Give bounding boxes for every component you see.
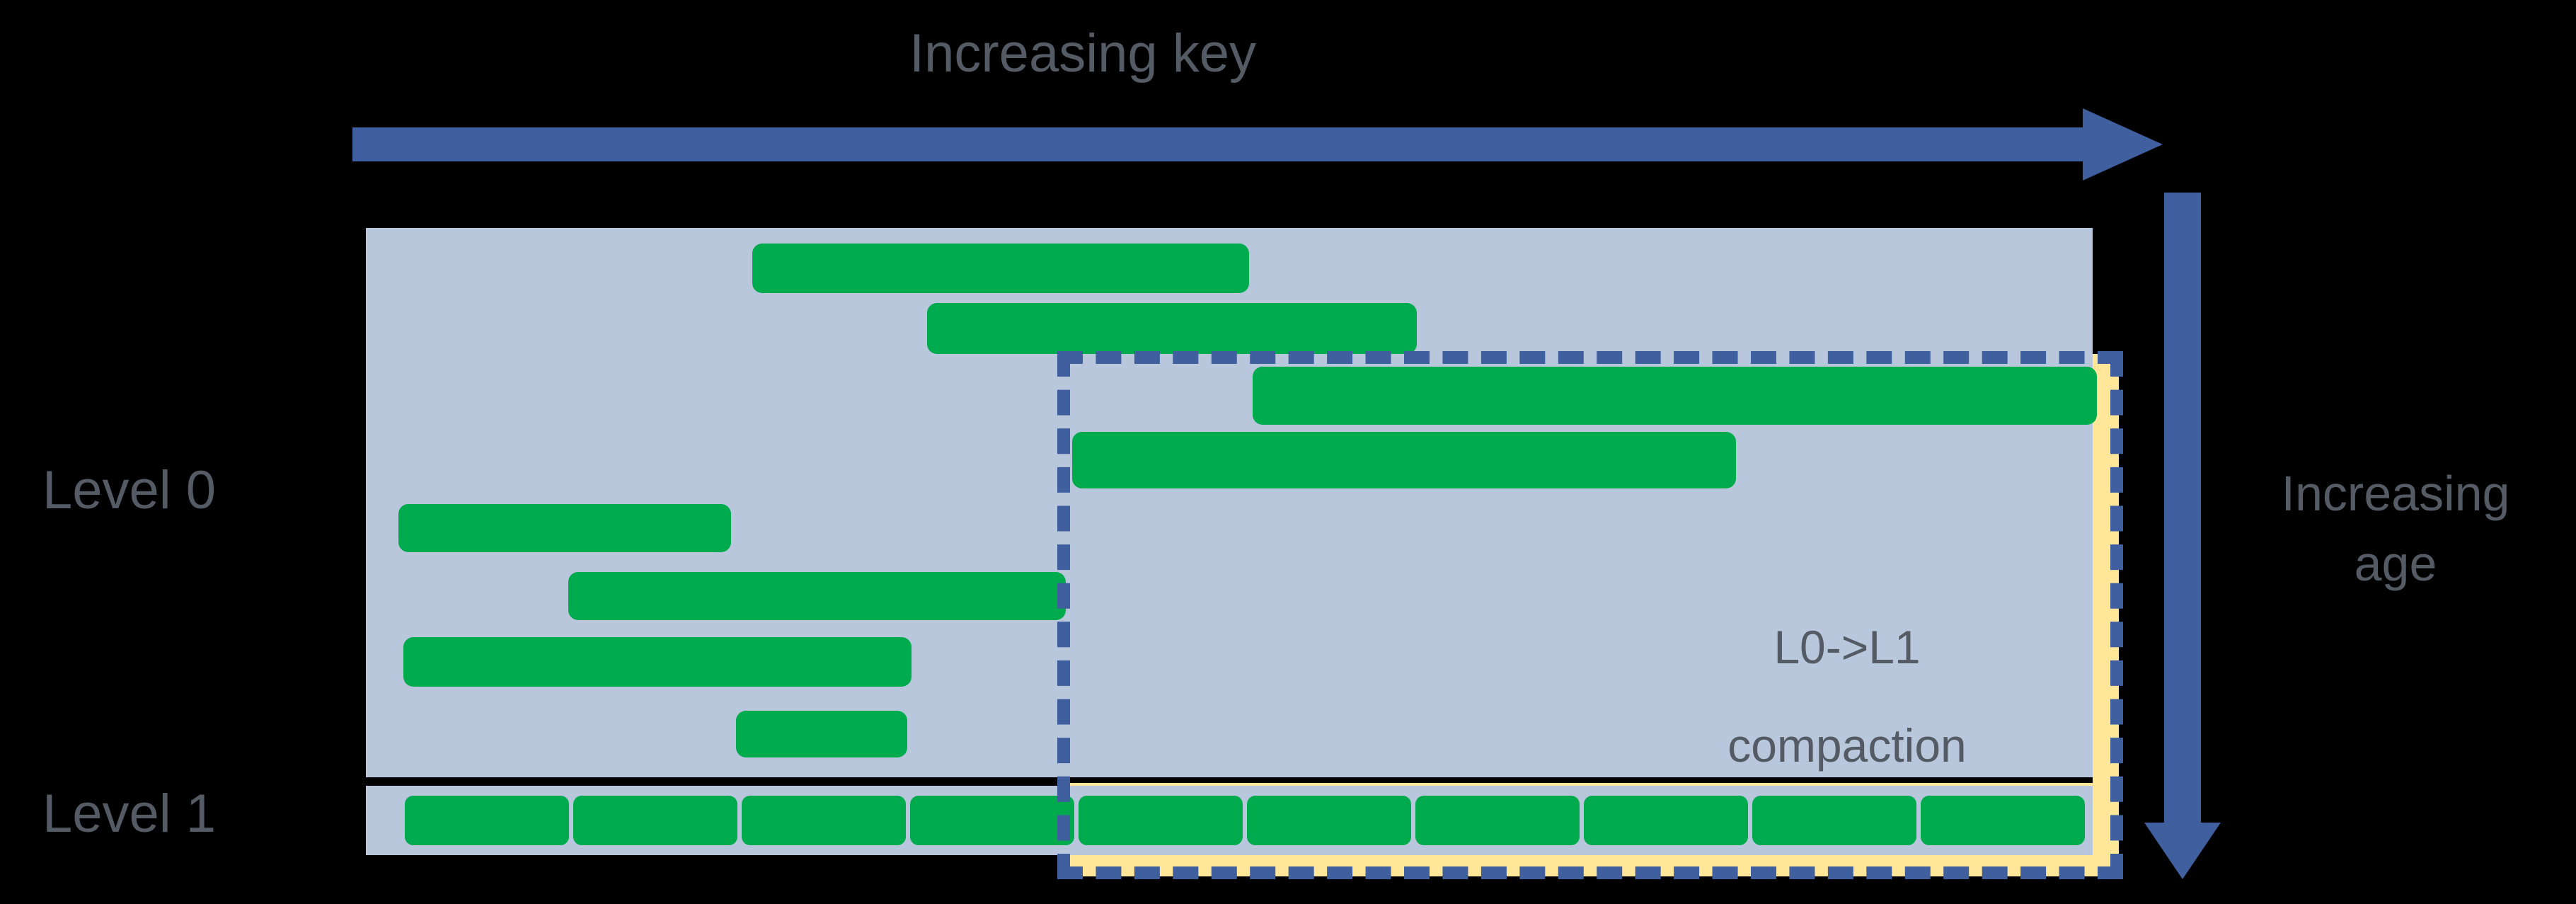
l1-sst-3 [742, 796, 906, 845]
increasing-age-arrow-icon [2143, 193, 2222, 881]
level-1-label: Level 1 [42, 787, 216, 841]
l0-sst-7 [403, 637, 912, 687]
lsm-tree-compaction-diagram: Increasing key Increasingage Level 0 L0-… [0, 0, 2576, 904]
increasing-age-label: Increasingage [2229, 459, 2562, 600]
increasing-key-label: Increasing key [0, 27, 2166, 81]
l1-sst-4 [910, 796, 1074, 845]
level-0-label: Level 0 [42, 464, 216, 517]
l0-sst-4 [1072, 432, 1736, 488]
l1-sst-8 [1584, 796, 1748, 845]
l0-sst-1 [752, 244, 1249, 293]
increasing-age-line2: age [2354, 536, 2437, 591]
l1-sst-10 [1921, 796, 2085, 845]
l0-sst-6 [568, 572, 1066, 620]
compaction-line1: L0->L1 [1773, 621, 1920, 673]
l1-sst-9 [1752, 796, 1916, 845]
l1-sst-5 [1079, 796, 1243, 845]
l0-sst-3 [1253, 367, 2097, 425]
compaction-line2: compaction [1727, 719, 1967, 772]
l1-sst-1 [405, 796, 569, 845]
l0-sst-8 [736, 711, 907, 757]
compaction-label: L0->L1compaction [1649, 598, 2045, 794]
increasing-age-line1: Increasing [2282, 466, 2510, 521]
increasing-key-arrow-icon [352, 106, 2164, 183]
l1-sst-6 [1247, 796, 1411, 845]
l0-sst-5 [398, 504, 731, 552]
l1-sst-7 [1415, 796, 1580, 845]
l1-sst-2 [573, 796, 737, 845]
l0-sst-2 [927, 303, 1417, 354]
